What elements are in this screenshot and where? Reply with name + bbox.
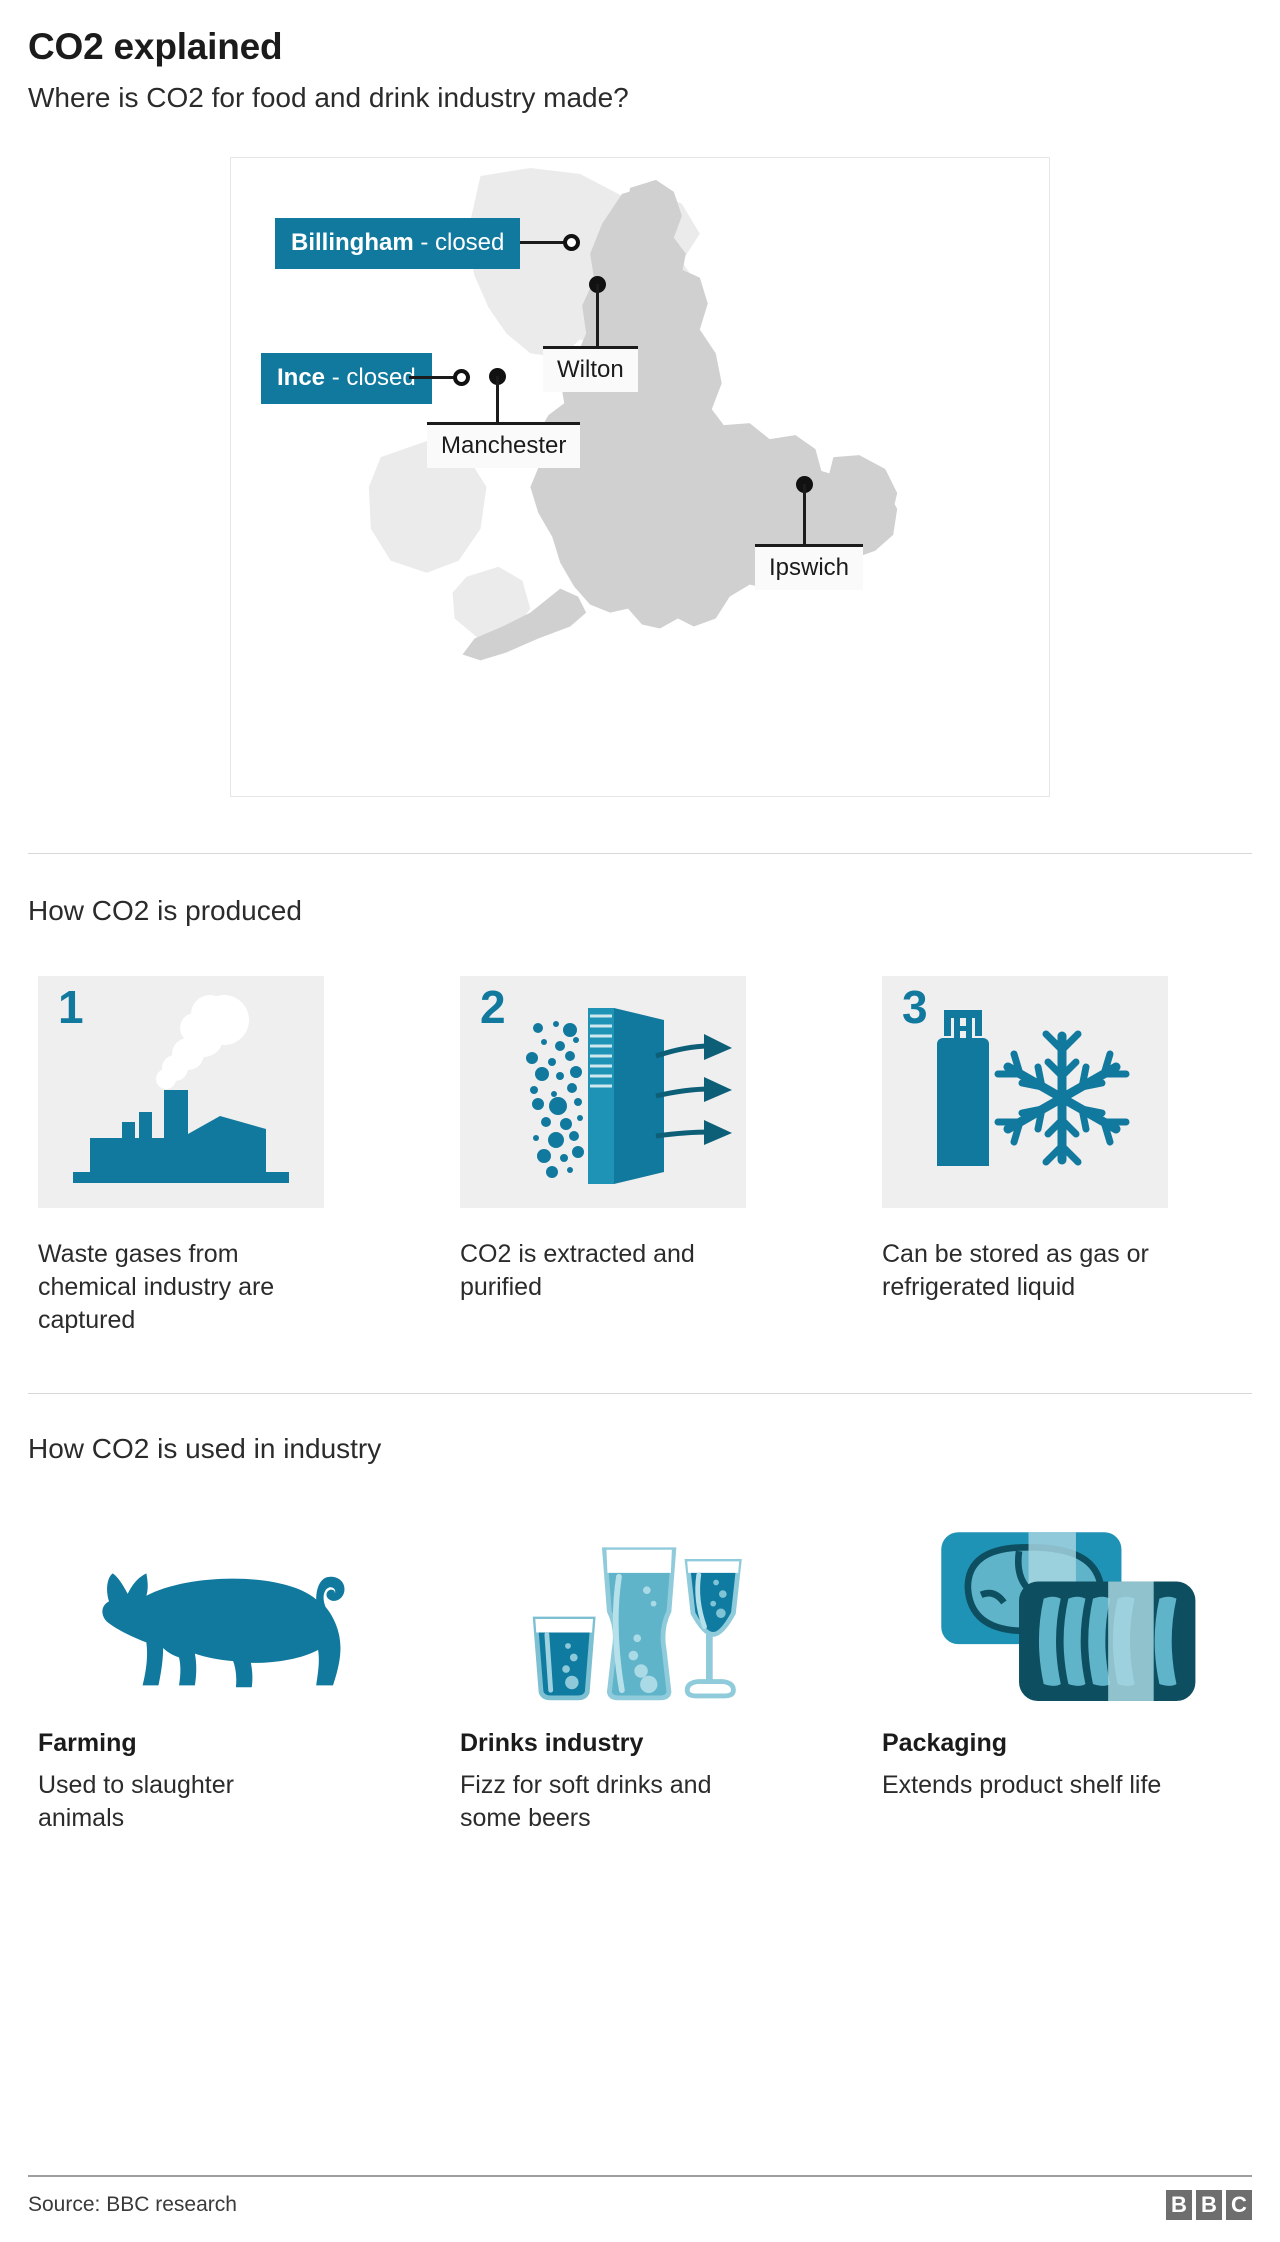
marker-billingham[interactable] (563, 234, 580, 251)
used-item-drinks-caption: Fizz for soft drinks and some beers (450, 1769, 740, 1836)
section-title-produced: How CO2 is produced (28, 894, 1252, 928)
produced-step-2: 2 (450, 976, 830, 1338)
connector-manchester (496, 376, 499, 424)
page-title: CO2 explained (28, 26, 1252, 67)
produced-step-2-caption: CO2 is extracted and purified (460, 1238, 750, 1305)
produced-step-2-icon-box: 2 (460, 976, 746, 1208)
used-grid: Farming Used to slaughter animals (28, 1500, 1252, 1836)
produced-grid: 1 (28, 976, 1252, 1338)
map-label-wilton[interactable]: Wilton (543, 346, 638, 392)
food-packaging-icon (928, 1515, 1203, 1705)
map-label-ipswich-name: Ipswich (769, 554, 849, 581)
marker-ince[interactable] (453, 369, 470, 386)
produced-step-3-caption: Can be stored as gas or refrigerated liq… (882, 1238, 1172, 1305)
bbc-logo: B B C (1166, 2190, 1252, 2220)
produced-step-1: 1 (28, 976, 408, 1338)
source-text: Source: BBC research (28, 2193, 237, 2217)
map-label-billingham[interactable]: Billingham - closed (275, 218, 520, 269)
connector-billingham (520, 241, 566, 244)
map-section: Billingham - closed Wilton Ince - closed… (28, 157, 1252, 797)
used-item-farming-title: Farming (28, 1729, 408, 1758)
used-item-farming: Farming Used to slaughter animals (28, 1500, 408, 1836)
used-item-drinks-icon-box (450, 1500, 830, 1705)
footer-divider (28, 2175, 1252, 2177)
used-item-drinks: Drinks industry Fizz for soft drinks and… (450, 1500, 830, 1836)
used-item-packaging: Packaging Extends product shelf life (872, 1500, 1252, 1836)
used-item-packaging-icon-box (872, 1500, 1252, 1705)
map-label-billingham-status: - closed (414, 229, 505, 256)
page-subtitle: Where is CO2 for food and drink industry… (28, 81, 1252, 115)
map-label-billingham-name: Billingham (291, 229, 414, 256)
produced-step-1-caption: Waste gases from chemical industry are c… (38, 1238, 328, 1338)
produced-step-2-number: 2 (480, 984, 506, 1030)
map-label-ince-status: - closed (325, 364, 416, 391)
used-item-farming-caption: Used to slaughter animals (28, 1769, 318, 1836)
drink-glasses-icon (518, 1510, 768, 1705)
bbc-logo-letter-2: B (1196, 2190, 1222, 2220)
used-item-packaging-title: Packaging (872, 1729, 1252, 1758)
connector-wilton (596, 284, 599, 348)
uk-map: Billingham - closed Wilton Ince - closed… (230, 157, 1050, 797)
header: CO2 explained Where is CO2 for food and … (28, 0, 1252, 115)
divider-produced (28, 853, 1252, 854)
map-label-manchester-name: Manchester (441, 432, 566, 459)
produced-step-3: 3 (872, 976, 1252, 1338)
map-label-ipswich[interactable]: Ipswich (755, 544, 863, 590)
pig-icon (81, 1535, 361, 1705)
bbc-logo-letter-1: B (1166, 2190, 1192, 2220)
used-item-drinks-title: Drinks industry (450, 1729, 830, 1758)
produced-step-1-icon-box: 1 (38, 976, 324, 1208)
connector-ipswich (803, 484, 806, 546)
produced-step-3-number: 3 (902, 984, 928, 1030)
used-item-packaging-caption: Extends product shelf life (872, 1769, 1162, 1802)
map-label-wilton-name: Wilton (557, 356, 624, 383)
bbc-logo-letter-3: C (1226, 2190, 1252, 2220)
map-label-ince[interactable]: Ince - closed (261, 353, 432, 404)
connector-ince (409, 376, 457, 379)
produced-step-1-number: 1 (58, 984, 84, 1030)
footer: Source: BBC research B B C (28, 2175, 1252, 2220)
produced-step-3-icon-box: 3 (882, 976, 1168, 1208)
map-label-manchester[interactable]: Manchester (427, 422, 580, 468)
section-title-used: How CO2 is used in industry (28, 1432, 1252, 1466)
infographic-page: CO2 explained Where is CO2 for food and … (0, 0, 1280, 2242)
used-item-farming-icon-box (28, 1500, 408, 1705)
map-label-ince-name: Ince (277, 364, 325, 391)
divider-used (28, 1393, 1252, 1394)
